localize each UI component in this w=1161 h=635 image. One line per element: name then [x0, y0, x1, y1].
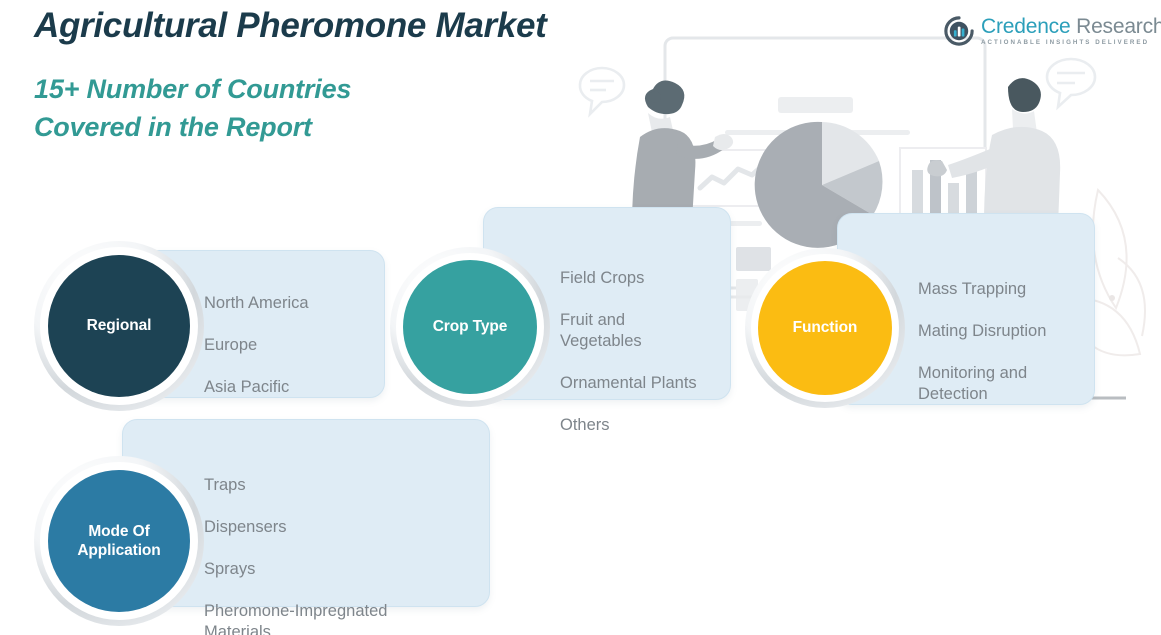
list-item: Pheromone-Impregnated Materials — [204, 601, 474, 635]
logo-brand-primary: Credence — [981, 15, 1070, 38]
logo-wordmark: Credence Research — [981, 16, 1161, 38]
list-item: Others — [560, 415, 730, 436]
segment-items-crop-type: Field Crops Fruit and Vegetables Ornamen… — [560, 247, 730, 457]
list-item: Sprays — [204, 559, 474, 580]
logo-brand-secondary: Research — [1070, 15, 1161, 38]
segment-items-function: Mass Trapping Mating Disruption Monitori… — [918, 258, 1098, 426]
segment-circle-mode-of-application[interactable]: Mode Of Application — [48, 470, 190, 612]
credence-research-logo[interactable]: Credence Research Actionable Insights De… — [944, 12, 1161, 50]
list-item: Dispensers — [204, 517, 474, 538]
list-item: Traps — [204, 475, 474, 496]
bar-chart-circle-logo-icon — [944, 16, 974, 46]
list-item: Fruit and Vegetables — [560, 310, 730, 352]
infographic-canvas: Agricultural Pheromone Market 15+ Number… — [0, 0, 1161, 635]
list-item: North America — [204, 293, 394, 314]
page-title: Agricultural Pheromone Market — [34, 6, 547, 46]
list-item: Ornamental Plants — [560, 373, 730, 394]
segment-circle-crop-type[interactable]: Crop Type — [403, 260, 537, 394]
list-item: Monitoring and Detection — [918, 363, 1098, 405]
list-item: Asia Pacific — [204, 377, 394, 398]
list-item: Field Crops — [560, 268, 730, 289]
list-item: Mass Trapping — [918, 279, 1098, 300]
segment-circle-regional[interactable]: Regional — [48, 255, 190, 397]
segment-items-mode-of-application: Traps Dispensers Sprays Pheromone-Impreg… — [204, 454, 474, 635]
logo-tagline: Actionable Insights Delivered — [981, 39, 1161, 46]
list-item: Europe — [204, 335, 394, 356]
logo-text: Credence Research Actionable Insights De… — [981, 16, 1161, 46]
segment-circle-function[interactable]: Function — [758, 261, 892, 395]
list-item: Mating Disruption — [918, 321, 1098, 342]
page-subtitle: 15+ Number of Countries Covered in the R… — [34, 70, 351, 146]
header: Agricultural Pheromone Market 15+ Number… — [0, 0, 1161, 160]
